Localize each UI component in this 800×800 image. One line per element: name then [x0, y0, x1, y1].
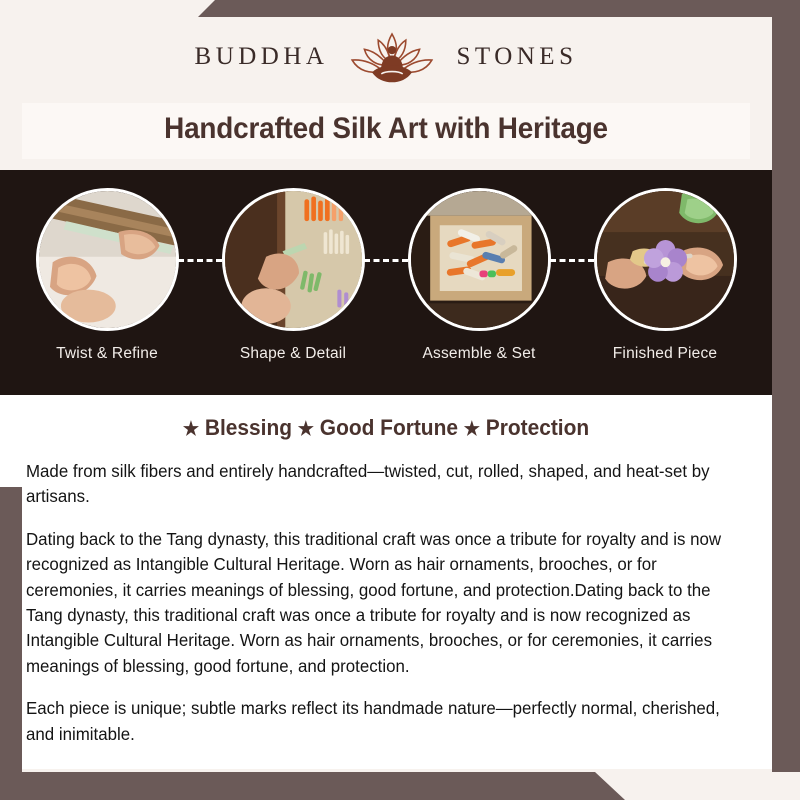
step-label-twist-refine: Twist & Refine — [56, 345, 158, 363]
lotus-meditation-icon — [346, 26, 438, 88]
step-image-shape-detail — [222, 188, 365, 331]
frame-top-bar — [0, 0, 800, 17]
body-paragraph-1: Made from silk fibers and entirely handc… — [26, 459, 724, 510]
frame-left-bar — [0, 487, 22, 800]
star-icon-1: ★ — [183, 419, 199, 440]
body-paragraph-3: Each piece is unique; subtle marks refle… — [26, 696, 724, 747]
process-steps-band: Twist & Refine — [0, 170, 772, 395]
brand-word-right: STONES — [456, 43, 577, 71]
content-area: ★ Blessing ★ Good Fortune ★ Protection M… — [0, 395, 772, 769]
star-icon-2: ★ — [298, 419, 314, 440]
process-step-assemble-set: Assemble & Set — [386, 188, 572, 363]
page-canvas: BUDDHA STONES — [0, 17, 772, 772]
step-label-assemble-set: Assemble & Set — [422, 345, 535, 363]
process-step-twist-refine: Twist & Refine — [14, 188, 200, 363]
frame-bottom-bar — [0, 772, 800, 800]
process-step-finished-piece: Finished Piece — [572, 188, 758, 363]
step-label-shape-detail: Shape & Detail — [240, 345, 346, 363]
step-image-assemble-set — [408, 188, 551, 331]
frame-right-bar — [772, 0, 800, 772]
step-image-twist-refine — [36, 188, 179, 331]
brand-word-left: BUDDHA — [195, 43, 329, 71]
title-banner: Handcrafted Silk Art with Heritage — [22, 103, 750, 159]
brand-header: BUDDHA STONES — [0, 17, 772, 97]
step-connector-1 — [178, 259, 222, 262]
tagline-item-blessing: Blessing — [205, 415, 292, 440]
tagline-row: ★ Blessing ★ Good Fortune ★ Protection — [44, 415, 728, 441]
tagline-item-good-fortune: Good Fortune — [320, 415, 458, 440]
step-label-finished-piece: Finished Piece — [613, 345, 717, 363]
star-icon-3: ★ — [464, 419, 480, 440]
body-paragraph-2: Dating back to the Tang dynasty, this tr… — [26, 527, 724, 679]
process-step-shape-detail: Shape & Detail — [200, 188, 386, 363]
step-image-finished-piece — [594, 188, 737, 331]
page-title: Handcrafted Silk Art with Heritage — [47, 112, 724, 146]
tagline-item-protection: Protection — [486, 415, 589, 440]
step-connector-3 — [550, 259, 594, 262]
step-connector-2 — [364, 259, 408, 262]
